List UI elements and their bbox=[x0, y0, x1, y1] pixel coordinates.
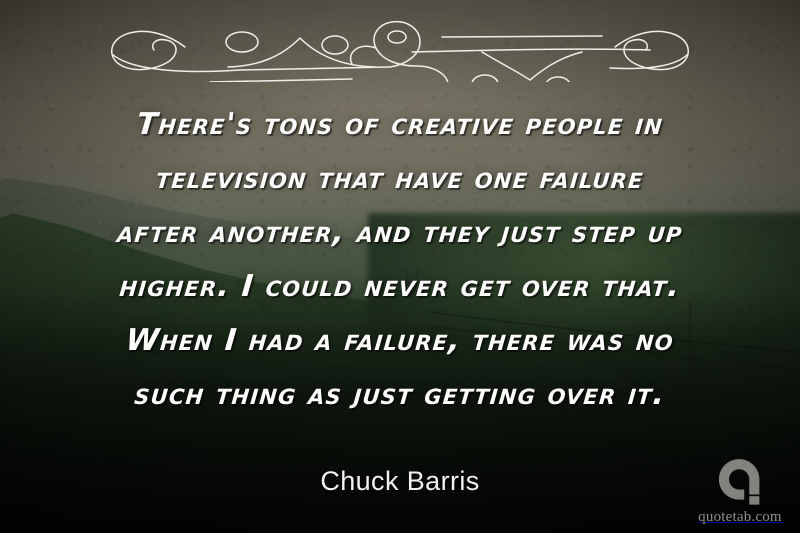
quotetab-logo[interactable]: quotetab.com bbox=[694, 454, 786, 525]
ornament-flourish bbox=[90, 12, 710, 82]
q-mark-icon bbox=[713, 454, 767, 508]
quote-line: such thing as just getting over it. bbox=[38, 368, 763, 422]
quote-author[interactable]: Chuck Barris bbox=[0, 466, 800, 497]
quote-line: television that have one failure bbox=[38, 152, 763, 206]
card-content: There's tons of creative people in telev… bbox=[0, 0, 800, 533]
quote-line: higher. I could never get over that. bbox=[38, 260, 763, 314]
quote-line: When I had a failure, there was no bbox=[38, 314, 763, 368]
logo-text: quotetab.com bbox=[698, 510, 782, 525]
quote-text: There's tons of creative people in telev… bbox=[40, 98, 760, 422]
flourish-icon bbox=[90, 12, 710, 82]
quote-line: after another, and they just step up bbox=[38, 206, 763, 260]
quote-line: There's tons of creative people in bbox=[38, 98, 763, 152]
quote-card: There's tons of creative people in telev… bbox=[0, 0, 800, 533]
